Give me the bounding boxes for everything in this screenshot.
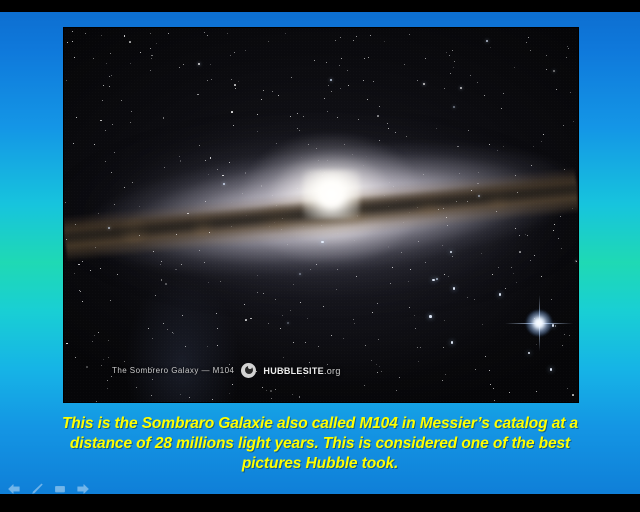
star — [85, 33, 86, 34]
star — [280, 328, 281, 329]
star — [384, 41, 385, 42]
star — [98, 332, 99, 333]
star — [210, 64, 211, 65]
star — [348, 85, 349, 86]
star — [93, 58, 94, 59]
star — [484, 95, 485, 96]
star — [367, 99, 368, 100]
star — [485, 356, 486, 357]
star — [106, 63, 107, 64]
star — [299, 396, 301, 398]
star — [212, 399, 213, 400]
star — [229, 393, 230, 394]
star — [121, 100, 122, 101]
star — [266, 390, 267, 391]
star — [103, 85, 104, 86]
star — [453, 67, 454, 68]
star — [353, 40, 354, 41]
star — [546, 69, 547, 70]
star — [262, 387, 263, 388]
star — [124, 35, 126, 37]
star — [331, 335, 332, 336]
star — [124, 361, 125, 362]
watermark-caption-text: The Sombrero Galaxy — M104 — [112, 366, 234, 375]
star — [150, 48, 151, 49]
star — [207, 35, 208, 36]
star — [152, 379, 153, 380]
star — [108, 357, 109, 358]
star — [564, 334, 565, 335]
star — [109, 76, 110, 77]
star — [445, 374, 446, 375]
star — [373, 81, 374, 82]
star — [271, 398, 272, 399]
star — [417, 347, 419, 349]
star — [556, 89, 557, 90]
star — [340, 37, 341, 38]
star — [493, 388, 494, 389]
star — [444, 320, 445, 321]
star — [151, 58, 152, 59]
bright-field-star — [451, 341, 454, 344]
star — [377, 372, 379, 374]
bright-field-star — [528, 352, 531, 355]
star — [347, 70, 348, 71]
star — [101, 365, 102, 366]
star — [189, 397, 190, 398]
star — [514, 67, 515, 68]
star — [470, 75, 471, 76]
star — [150, 33, 151, 34]
star — [443, 347, 444, 348]
letterbox-bar-bottom — [0, 494, 640, 512]
star — [404, 64, 405, 65]
stop-slideshow-button[interactable] — [53, 482, 67, 494]
star — [314, 60, 315, 61]
star — [102, 100, 103, 101]
star — [340, 88, 341, 89]
star — [489, 370, 490, 371]
star — [450, 73, 451, 74]
star — [283, 357, 284, 358]
star — [331, 91, 332, 92]
star — [66, 80, 67, 81]
star — [420, 347, 421, 348]
star — [490, 47, 491, 48]
star — [324, 98, 325, 99]
star — [136, 387, 137, 388]
star — [490, 384, 491, 385]
star — [503, 93, 504, 94]
star — [568, 48, 569, 49]
star — [108, 340, 109, 341]
star — [211, 79, 212, 80]
star — [477, 82, 478, 83]
star — [285, 33, 286, 34]
star — [364, 58, 365, 59]
star — [235, 88, 236, 89]
star — [364, 385, 365, 386]
slide-caption: This is the Sombraro Galaxie also called… — [0, 414, 640, 474]
star — [365, 345, 366, 346]
star — [555, 325, 557, 327]
star — [185, 346, 186, 347]
caption-line-1: This is the Sombraro Galaxie also called… — [0, 414, 640, 434]
star — [305, 342, 306, 343]
star — [371, 360, 372, 361]
star — [570, 92, 571, 93]
star — [183, 64, 184, 65]
star — [275, 389, 276, 390]
star — [482, 324, 483, 325]
star — [261, 99, 262, 100]
star — [409, 34, 410, 35]
star — [75, 357, 76, 358]
star — [553, 70, 555, 72]
star — [172, 332, 174, 334]
star — [268, 41, 269, 42]
star — [278, 95, 279, 96]
star — [180, 394, 181, 395]
star — [494, 400, 495, 401]
star — [107, 380, 108, 381]
previous-slide-button[interactable] — [7, 482, 21, 494]
star — [536, 344, 537, 345]
star — [339, 65, 340, 66]
star — [444, 88, 445, 89]
star — [356, 36, 357, 37]
star — [475, 369, 476, 370]
star — [207, 80, 208, 81]
star — [207, 346, 208, 347]
slideshow-nav-toolbar — [7, 482, 90, 494]
star — [292, 394, 293, 395]
star — [378, 339, 380, 341]
star — [370, 35, 371, 36]
star — [318, 346, 319, 347]
star — [399, 377, 400, 378]
star — [379, 366, 380, 367]
star — [293, 342, 294, 343]
star — [379, 106, 380, 107]
star — [263, 90, 264, 91]
galaxy-photo-image — [64, 28, 578, 402]
star — [415, 328, 416, 329]
watermark-site-suffix: .org — [324, 366, 341, 376]
next-slide-button[interactable] — [76, 482, 90, 494]
star — [245, 320, 246, 321]
star — [232, 384, 233, 385]
star — [376, 364, 377, 365]
star — [140, 52, 141, 53]
star — [107, 388, 108, 389]
star-glow — [526, 310, 552, 336]
star — [101, 35, 102, 36]
star — [270, 390, 272, 392]
star — [168, 33, 169, 34]
star — [272, 91, 273, 92]
star — [94, 335, 95, 336]
watermark-site-text: HUBBLESITE.org — [263, 366, 340, 376]
bright-field-star — [550, 368, 553, 371]
hubble-eye-logo-icon — [241, 363, 256, 378]
letterbox-bar-top — [0, 0, 640, 12]
star — [217, 345, 218, 346]
star — [530, 50, 531, 51]
star — [72, 41, 73, 42]
star — [103, 359, 104, 360]
star — [446, 52, 448, 54]
slideshow-viewer: The Sombrero Galaxy — M104 HUBBLESITE.or… — [0, 0, 640, 512]
star — [150, 70, 151, 71]
star — [151, 55, 153, 57]
star — [562, 345, 563, 346]
star — [536, 391, 537, 392]
star — [130, 63, 131, 64]
star — [287, 322, 289, 324]
star — [110, 53, 111, 54]
caption-line-3: pictures Hubble took. — [0, 454, 640, 474]
star — [179, 67, 180, 68]
star — [204, 32, 205, 33]
star — [417, 80, 418, 81]
star — [425, 58, 426, 59]
star — [151, 395, 152, 396]
star — [217, 328, 218, 329]
star — [454, 61, 455, 62]
star — [86, 366, 88, 368]
star — [129, 41, 131, 43]
star — [230, 55, 231, 56]
star — [152, 338, 153, 339]
star — [326, 62, 327, 63]
star — [67, 42, 68, 43]
star — [268, 323, 269, 324]
galaxy-photo-frame[interactable]: The Sombrero Galaxy — M104 HUBBLESITE.or… — [64, 28, 578, 402]
photo-watermark: The Sombrero Galaxy — M104 HUBBLESITE.or… — [112, 363, 341, 378]
star — [567, 388, 568, 389]
star — [167, 329, 168, 330]
star — [173, 333, 174, 334]
bright-field-star — [552, 324, 555, 327]
galaxy-core — [303, 170, 360, 219]
star — [546, 55, 547, 56]
star — [567, 46, 568, 47]
star — [343, 338, 344, 339]
star — [354, 323, 355, 324]
star — [330, 79, 332, 81]
star — [231, 79, 232, 80]
star — [72, 31, 73, 32]
star — [381, 371, 382, 372]
star — [526, 42, 527, 43]
star — [442, 380, 443, 381]
star — [449, 55, 450, 56]
slide-canvas: The Sombrero Galaxy — M104 HUBBLESITE.or… — [0, 12, 640, 494]
star — [528, 37, 529, 38]
caption-line-2: distance of 28 millions light years. Thi… — [0, 434, 640, 454]
pen-annotate-button[interactable] — [30, 482, 44, 494]
star — [66, 343, 68, 345]
star — [486, 40, 488, 42]
star — [74, 57, 75, 58]
star — [572, 394, 574, 396]
star — [148, 328, 149, 329]
star — [335, 40, 336, 41]
star — [92, 341, 93, 342]
star — [368, 57, 369, 58]
star — [328, 85, 329, 86]
star — [453, 106, 455, 108]
star — [363, 80, 364, 81]
star — [452, 50, 453, 51]
star — [227, 33, 228, 34]
star — [163, 323, 164, 324]
star — [234, 52, 235, 53]
star — [109, 86, 110, 87]
star — [291, 77, 292, 78]
watermark-site-bold: HUBBLESITE — [263, 366, 324, 376]
star — [501, 108, 502, 109]
star — [197, 94, 199, 96]
star — [460, 87, 462, 89]
star — [569, 335, 570, 336]
star — [238, 81, 239, 82]
star — [566, 57, 567, 58]
star — [156, 43, 157, 44]
star — [423, 83, 425, 85]
star — [245, 50, 246, 51]
star — [198, 63, 200, 65]
star — [111, 75, 112, 76]
star — [509, 392, 510, 393]
star — [341, 58, 342, 59]
star — [234, 84, 236, 86]
star — [418, 361, 419, 362]
star — [96, 401, 97, 402]
star — [396, 390, 397, 391]
